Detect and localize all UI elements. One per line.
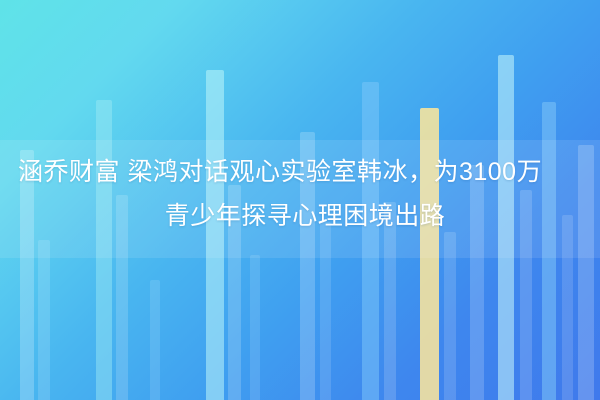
decorative-bar: [250, 255, 260, 400]
banner-title: 涵乔财富 梁鸿对话观心实验室韩冰，为3100万 青少年探寻心理困境出路: [0, 150, 600, 238]
decorative-bar: [38, 240, 50, 400]
banner-title-line-1: 涵乔财富 梁鸿对话观心实验室韩冰，为3100万: [14, 150, 586, 194]
banner-title-line-2: 青少年探寻心理困境出路: [14, 194, 586, 238]
promo-banner: 涵乔财富 梁鸿对话观心实验室韩冰，为3100万 青少年探寻心理困境出路: [0, 0, 600, 400]
decorative-bar: [150, 280, 160, 400]
